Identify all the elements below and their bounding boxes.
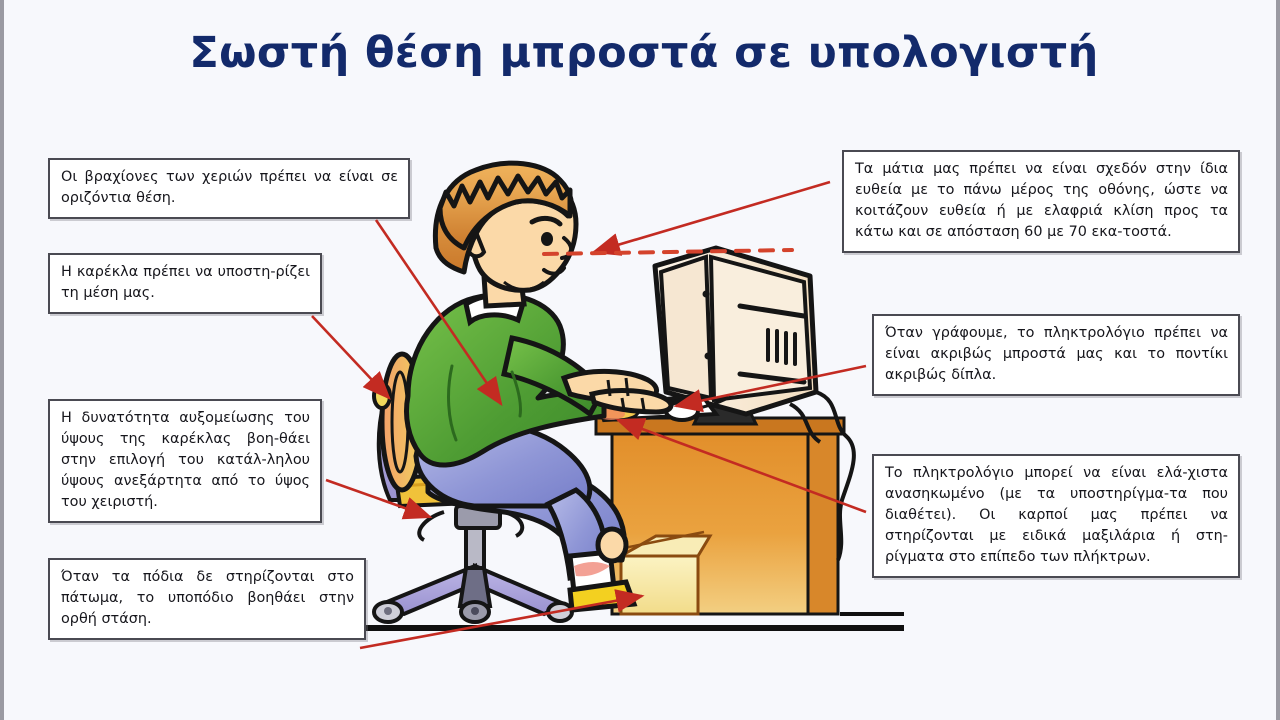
slide-root: Σωστή θέση μπροστά σε υπολογιστή xyxy=(0,0,1280,720)
callout-chair-height-text: Η δυνατότητα αυξομείωσης του ύψους της κ… xyxy=(61,408,310,513)
callout-keyboard-position-text: Όταν γράφουμε, το πληκτρολόγιο πρέπει να… xyxy=(885,323,1228,386)
callout-footrest-text: Όταν τα πόδια δε στηρίζονται στο πάτωμα,… xyxy=(61,567,354,630)
callout-arms: Οι βραχίονες των χεριών πρέπει να είναι … xyxy=(48,158,410,219)
callout-footrest: Όταν τα πόδια δε στηρίζονται στο πάτωμα,… xyxy=(48,558,366,640)
callout-keyboard-tilt-wrists-text: Το πληκτρολόγιο μπορεί να είναι ελά-χιστ… xyxy=(885,463,1228,568)
callout-eye-level: Τα μάτια μας πρέπει να είναι σχεδόν στην… xyxy=(842,150,1240,253)
callout-chair-back-support: Η καρέκλα πρέπει να υποστη-ρίζει τη μέση… xyxy=(48,253,322,314)
callout-chair-height: Η δυνατότητα αυξομείωσης του ύψους της κ… xyxy=(48,399,322,523)
callout-chair-back-support-text: Η καρέκλα πρέπει να υποστη-ρίζει τη μέση… xyxy=(61,262,310,304)
callout-keyboard-position: Όταν γράφουμε, το πληκτρολόγιο πρέπει να… xyxy=(872,314,1240,396)
callout-eye-level-text: Τα μάτια μας πρέπει να είναι σχεδόν στην… xyxy=(855,159,1228,243)
callout-arms-text: Οι βραχίονες των χεριών πρέπει να είναι … xyxy=(61,167,398,209)
callout-keyboard-tilt-wrists: Το πληκτρολόγιο μπορεί να είναι ελά-χιστ… xyxy=(872,454,1240,578)
